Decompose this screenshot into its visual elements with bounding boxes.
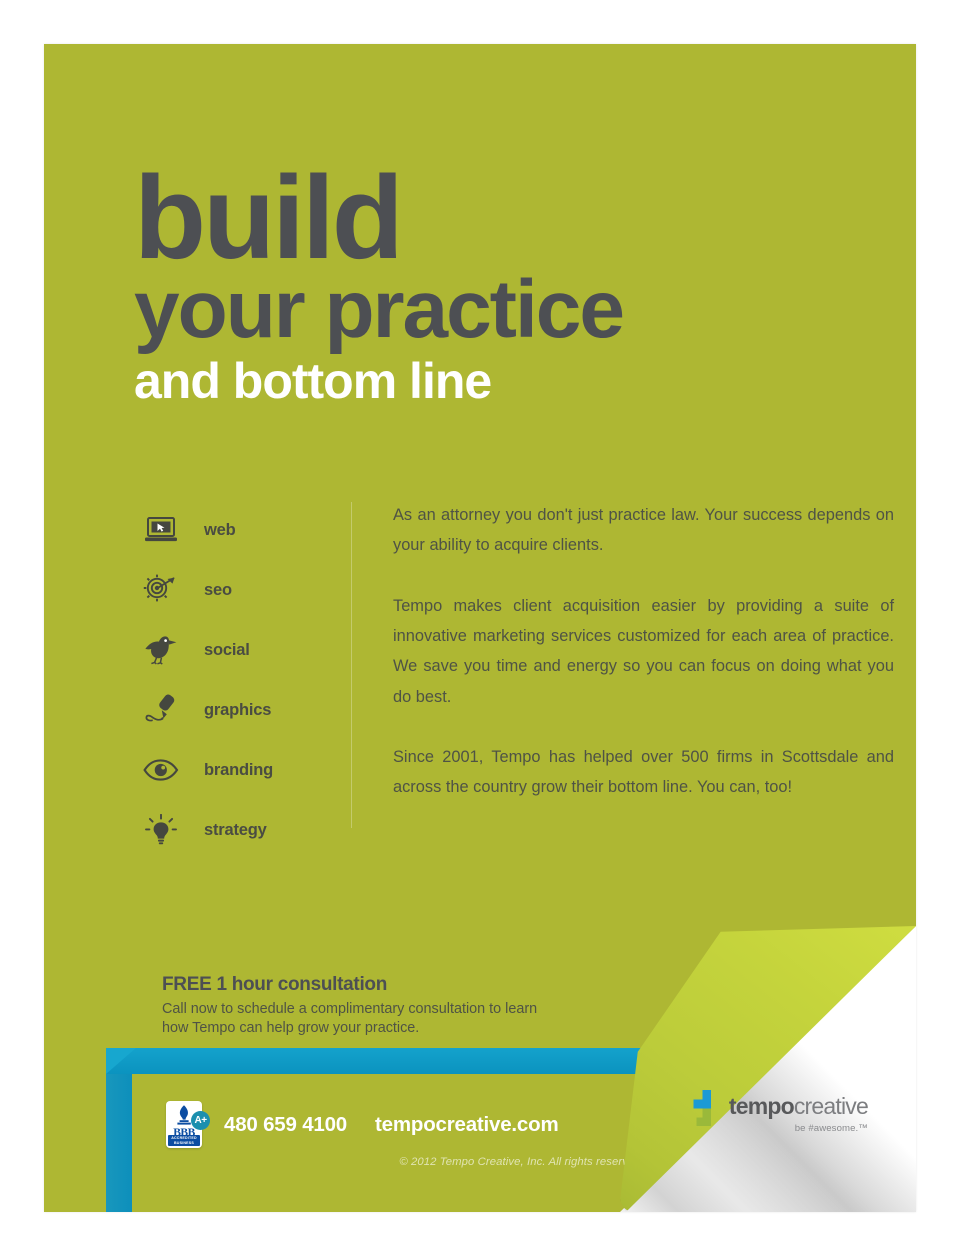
cta-block: FREE 1 hour consultation Call now to sch… [162,974,682,1038]
service-label-web: web [204,521,236,540]
pen-nib-icon [134,688,188,732]
flyer-page: build your practice and bottom line [0,0,960,1255]
service-item-social[interactable]: social [134,620,352,680]
website-url[interactable]: tempocreative.com [375,1113,558,1137]
service-label-branding: branding [204,761,273,780]
bbb-rating-badge: A+ [191,1111,210,1130]
bird-icon [134,628,188,672]
service-label-social: social [204,641,250,660]
headline-block: build your practice and bottom line [134,164,623,408]
logo-tagline: be #awesome.™ [729,1123,868,1134]
copyright-text: © 2012 Tempo Creative, Inc. All rights r… [344,1156,644,1168]
headline-line-2: your practice [134,268,623,352]
services-list: web [134,494,352,860]
service-item-branding[interactable]: branding [134,740,352,800]
headline-line-1: build [134,164,623,274]
content-block: web [134,494,894,860]
logo-wordmark: tempocreative [729,1095,868,1118]
bbb-accreditation-label: ACCREDITED BUSINESS [168,1135,200,1146]
body-copy: As an attorney you don't just practice l… [352,494,894,860]
service-label-seo: seo [204,581,232,600]
eye-icon [134,748,188,792]
service-item-graphics[interactable]: graphics [134,680,352,740]
body-paragraph-2: Tempo makes client acquisition easier by… [393,591,894,712]
tempo-logo-mark [693,1090,719,1126]
bbb-accredited-badge[interactable]: BBB ACCREDITED BUSINESS A+ [166,1101,202,1148]
headline-line-3: and bottom line [134,355,623,408]
laptop-cursor-icon [134,508,188,552]
cta-line-1: Call now to schedule a complimentary con… [162,1000,682,1019]
flyer-sheet: build your practice and bottom line [44,44,916,1212]
service-item-strategy[interactable]: strategy [134,800,352,860]
banner-vertical-bar [106,1074,132,1212]
service-label-strategy: strategy [204,821,267,840]
logo-word-light: creative [794,1093,868,1119]
service-item-web[interactable]: web [134,500,352,560]
tempo-creative-logo[interactable]: tempocreative be #awesome.™ [693,1090,868,1134]
logo-text-block: tempocreative be #awesome.™ [729,1090,868,1134]
cta-title: FREE 1 hour consultation [162,974,682,996]
contact-strip: BBB ACCREDITED BUSINESS A+ 480 659 4100 … [166,1101,558,1148]
lightbulb-icon [134,808,188,852]
logo-word-bold: tempo [729,1093,794,1119]
target-arrow-icon [134,568,188,612]
phone-number[interactable]: 480 659 4100 [224,1113,347,1137]
service-label-graphics: graphics [204,701,271,720]
body-paragraph-1: As an attorney you don't just practice l… [393,500,894,561]
service-item-seo[interactable]: seo [134,560,352,620]
body-paragraph-3: Since 2001, Tempo has helped over 500 fi… [393,742,894,803]
